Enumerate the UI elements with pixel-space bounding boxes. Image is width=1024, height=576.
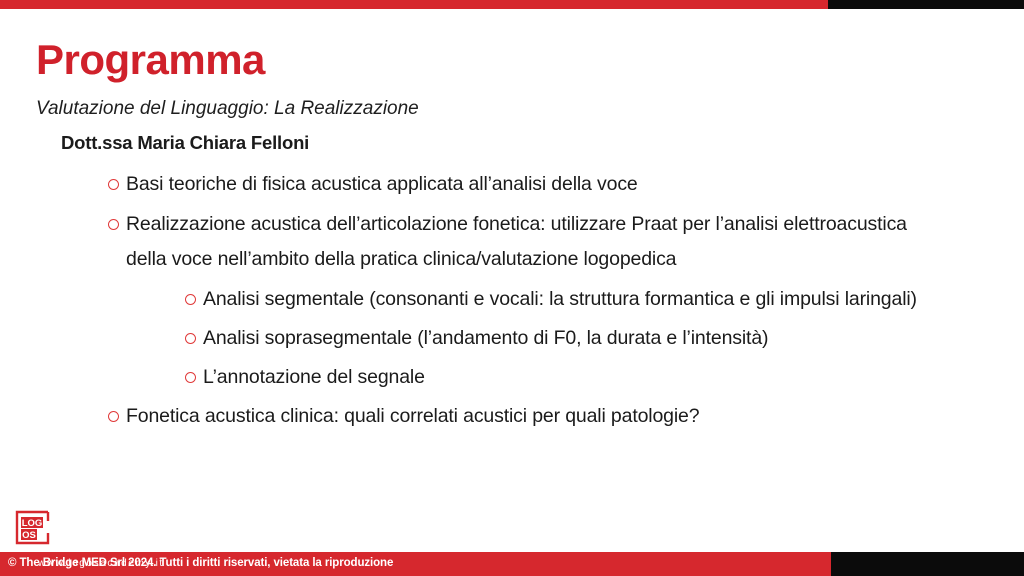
bullet-circle-icon	[185, 294, 196, 305]
list-item: Realizzazione acustica dell’articolazion…	[0, 207, 1024, 277]
list-item: L’annotazione del segnale	[0, 360, 1024, 395]
list-item-text: Basi teoriche di fisica acustica applica…	[126, 167, 914, 202]
logos-logo: LOG OS	[14, 509, 58, 547]
bullet-circle-icon	[108, 179, 119, 190]
list-item-text: L’annotazione del segnale	[203, 360, 976, 395]
list-item: Analisi segmentale (consonanti e vocali:…	[0, 282, 1024, 317]
website-url: www.logosacademy.it	[38, 558, 164, 569]
list-item: Analisi soprasegmentale (l’andamento di …	[0, 321, 1024, 356]
bullet-circle-icon	[185, 333, 196, 344]
list-item-text: Analisi soprasegmentale (l’andamento di …	[203, 321, 976, 356]
logo-line1: LOG	[22, 518, 43, 529]
list-item-text: Analisi segmentale (consonanti e vocali:…	[203, 282, 976, 317]
logo-line2: OS	[22, 530, 36, 541]
list-item-text: Fonetica acustica clinica: quali correla…	[126, 399, 914, 434]
list-item-text: Realizzazione acustica dell’articolazion…	[126, 207, 914, 277]
page-subtitle: Valutazione del Linguaggio: La Realizzaz…	[36, 98, 419, 120]
footer-bar: © The Bridge MED Srl 2024. Tutti i dirit…	[0, 552, 1024, 576]
page-title: Programma	[36, 38, 265, 82]
bullet-circle-icon	[185, 372, 196, 383]
top-accent-bar-red	[0, 0, 828, 9]
presenter-name: Dott.ssa Maria Chiara Felloni	[61, 132, 309, 154]
list-item: Basi teoriche di fisica acustica applica…	[0, 167, 1024, 202]
bullet-circle-icon	[108, 219, 119, 230]
slide: Programma Valutazione del Linguaggio: La…	[0, 0, 1024, 576]
program-list: Basi teoriche di fisica acustica applica…	[0, 167, 1024, 439]
footer-right-band	[831, 552, 1024, 576]
top-accent-bar-black	[828, 0, 1024, 9]
bullet-circle-icon	[108, 411, 119, 422]
list-item: Fonetica acustica clinica: quali correla…	[0, 399, 1024, 434]
